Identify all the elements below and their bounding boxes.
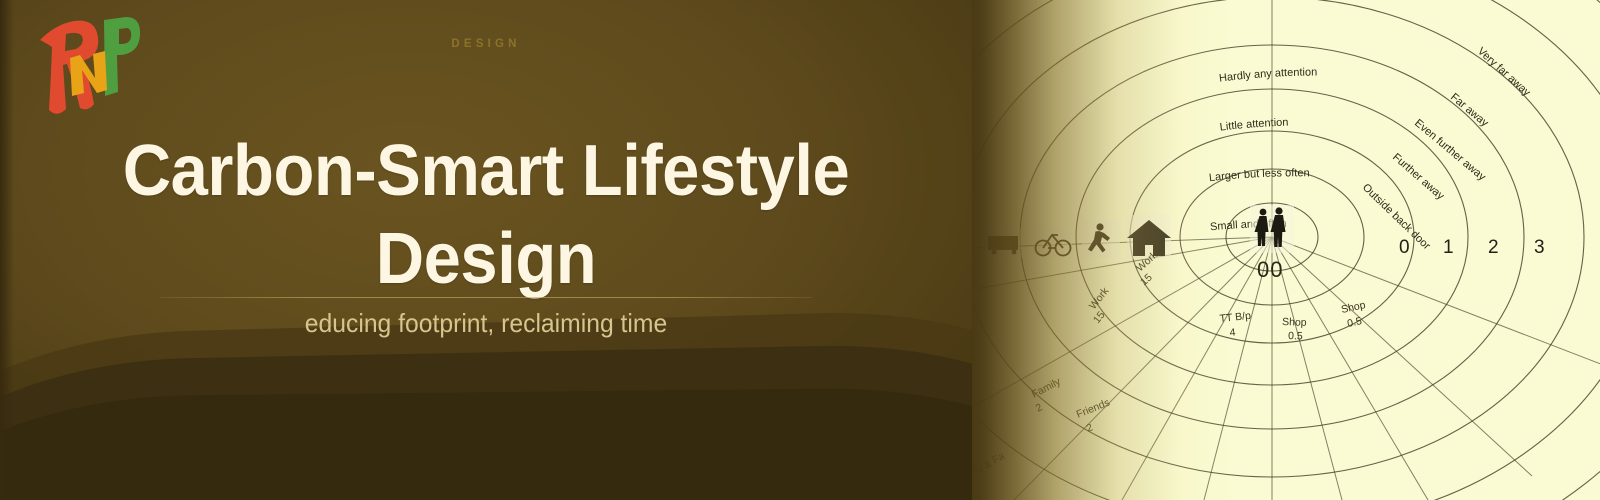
presentation-slide: DESIGN Carbon-Smart Lifestyle Design edu… xyxy=(0,0,1600,500)
concentric-rings-diagram: Hardly any attention Little attention La… xyxy=(972,0,1600,500)
svg-text:15: 15 xyxy=(1091,309,1108,326)
sector-label-friends: Friends 2 xyxy=(1075,397,1112,435)
distance-label-0: Very far away xyxy=(1475,45,1533,99)
center-value: 00 xyxy=(1257,257,1283,282)
subtitle: educing footprint, reclaiming time xyxy=(24,308,947,339)
center-marker[interactable]: 00 xyxy=(1250,205,1294,282)
sector-label-work-b: Work 15 xyxy=(1087,285,1112,326)
attention-label-0: Hardly any attention xyxy=(1218,67,1317,85)
sector-label-shop-b: Shop 0.5 xyxy=(1340,299,1367,330)
ring-number-2: 2 xyxy=(1488,237,1499,258)
svg-text:0.5: 0.5 xyxy=(1288,330,1303,343)
distance-labels: Very far away Far away Even further away… xyxy=(1360,45,1533,252)
svg-text:2: 2 xyxy=(1034,401,1045,414)
sector-label-family: Family 2 xyxy=(1030,375,1064,414)
svg-text:Shop: Shop xyxy=(1282,316,1307,329)
rnp-logo[interactable] xyxy=(22,8,140,116)
title-panel: DESIGN Carbon-Smart Lifestyle Design edu… xyxy=(0,0,972,500)
svg-text:ds & Fa: ds & Fa xyxy=(972,450,1007,479)
sector-label-friends-family-clipped: ds & Fa xyxy=(972,450,1007,479)
left-edge-shadow xyxy=(0,0,14,500)
eyebrow-label: DESIGN xyxy=(0,38,972,50)
distance-label-1: Far away xyxy=(1448,91,1491,130)
proximity-diagram-panel: Hardly any attention Little attention La… xyxy=(972,0,1600,500)
svg-text:Shop: Shop xyxy=(1340,299,1367,316)
background-band-3 xyxy=(0,385,972,500)
ring-number-3: 3 xyxy=(1534,237,1545,258)
svg-text:0.5: 0.5 xyxy=(1346,315,1363,330)
svg-text:2: 2 xyxy=(1085,421,1095,434)
ring-number-0: 0 xyxy=(1399,237,1410,258)
distance-label-4: Outside back door xyxy=(1360,182,1433,253)
svg-text:Family: Family xyxy=(1030,375,1064,400)
background-band-2 xyxy=(0,340,972,500)
bicycle-icon[interactable] xyxy=(1034,226,1072,258)
svg-text:4: 4 xyxy=(1229,326,1236,339)
ring-number-1: 1 xyxy=(1443,237,1454,258)
svg-text:Work: Work xyxy=(1087,285,1112,312)
page-title: Carbon-Smart Lifestyle Design xyxy=(34,128,938,304)
walking-person-icon[interactable] xyxy=(1082,220,1120,258)
title-divider xyxy=(160,297,812,298)
svg-text:Friends: Friends xyxy=(1075,397,1112,421)
bus-icon[interactable] xyxy=(984,228,1022,258)
sector-label-shop-a: Shop 0.5 xyxy=(1282,316,1307,343)
svg-text:TT B/p: TT B/p xyxy=(1219,310,1252,325)
